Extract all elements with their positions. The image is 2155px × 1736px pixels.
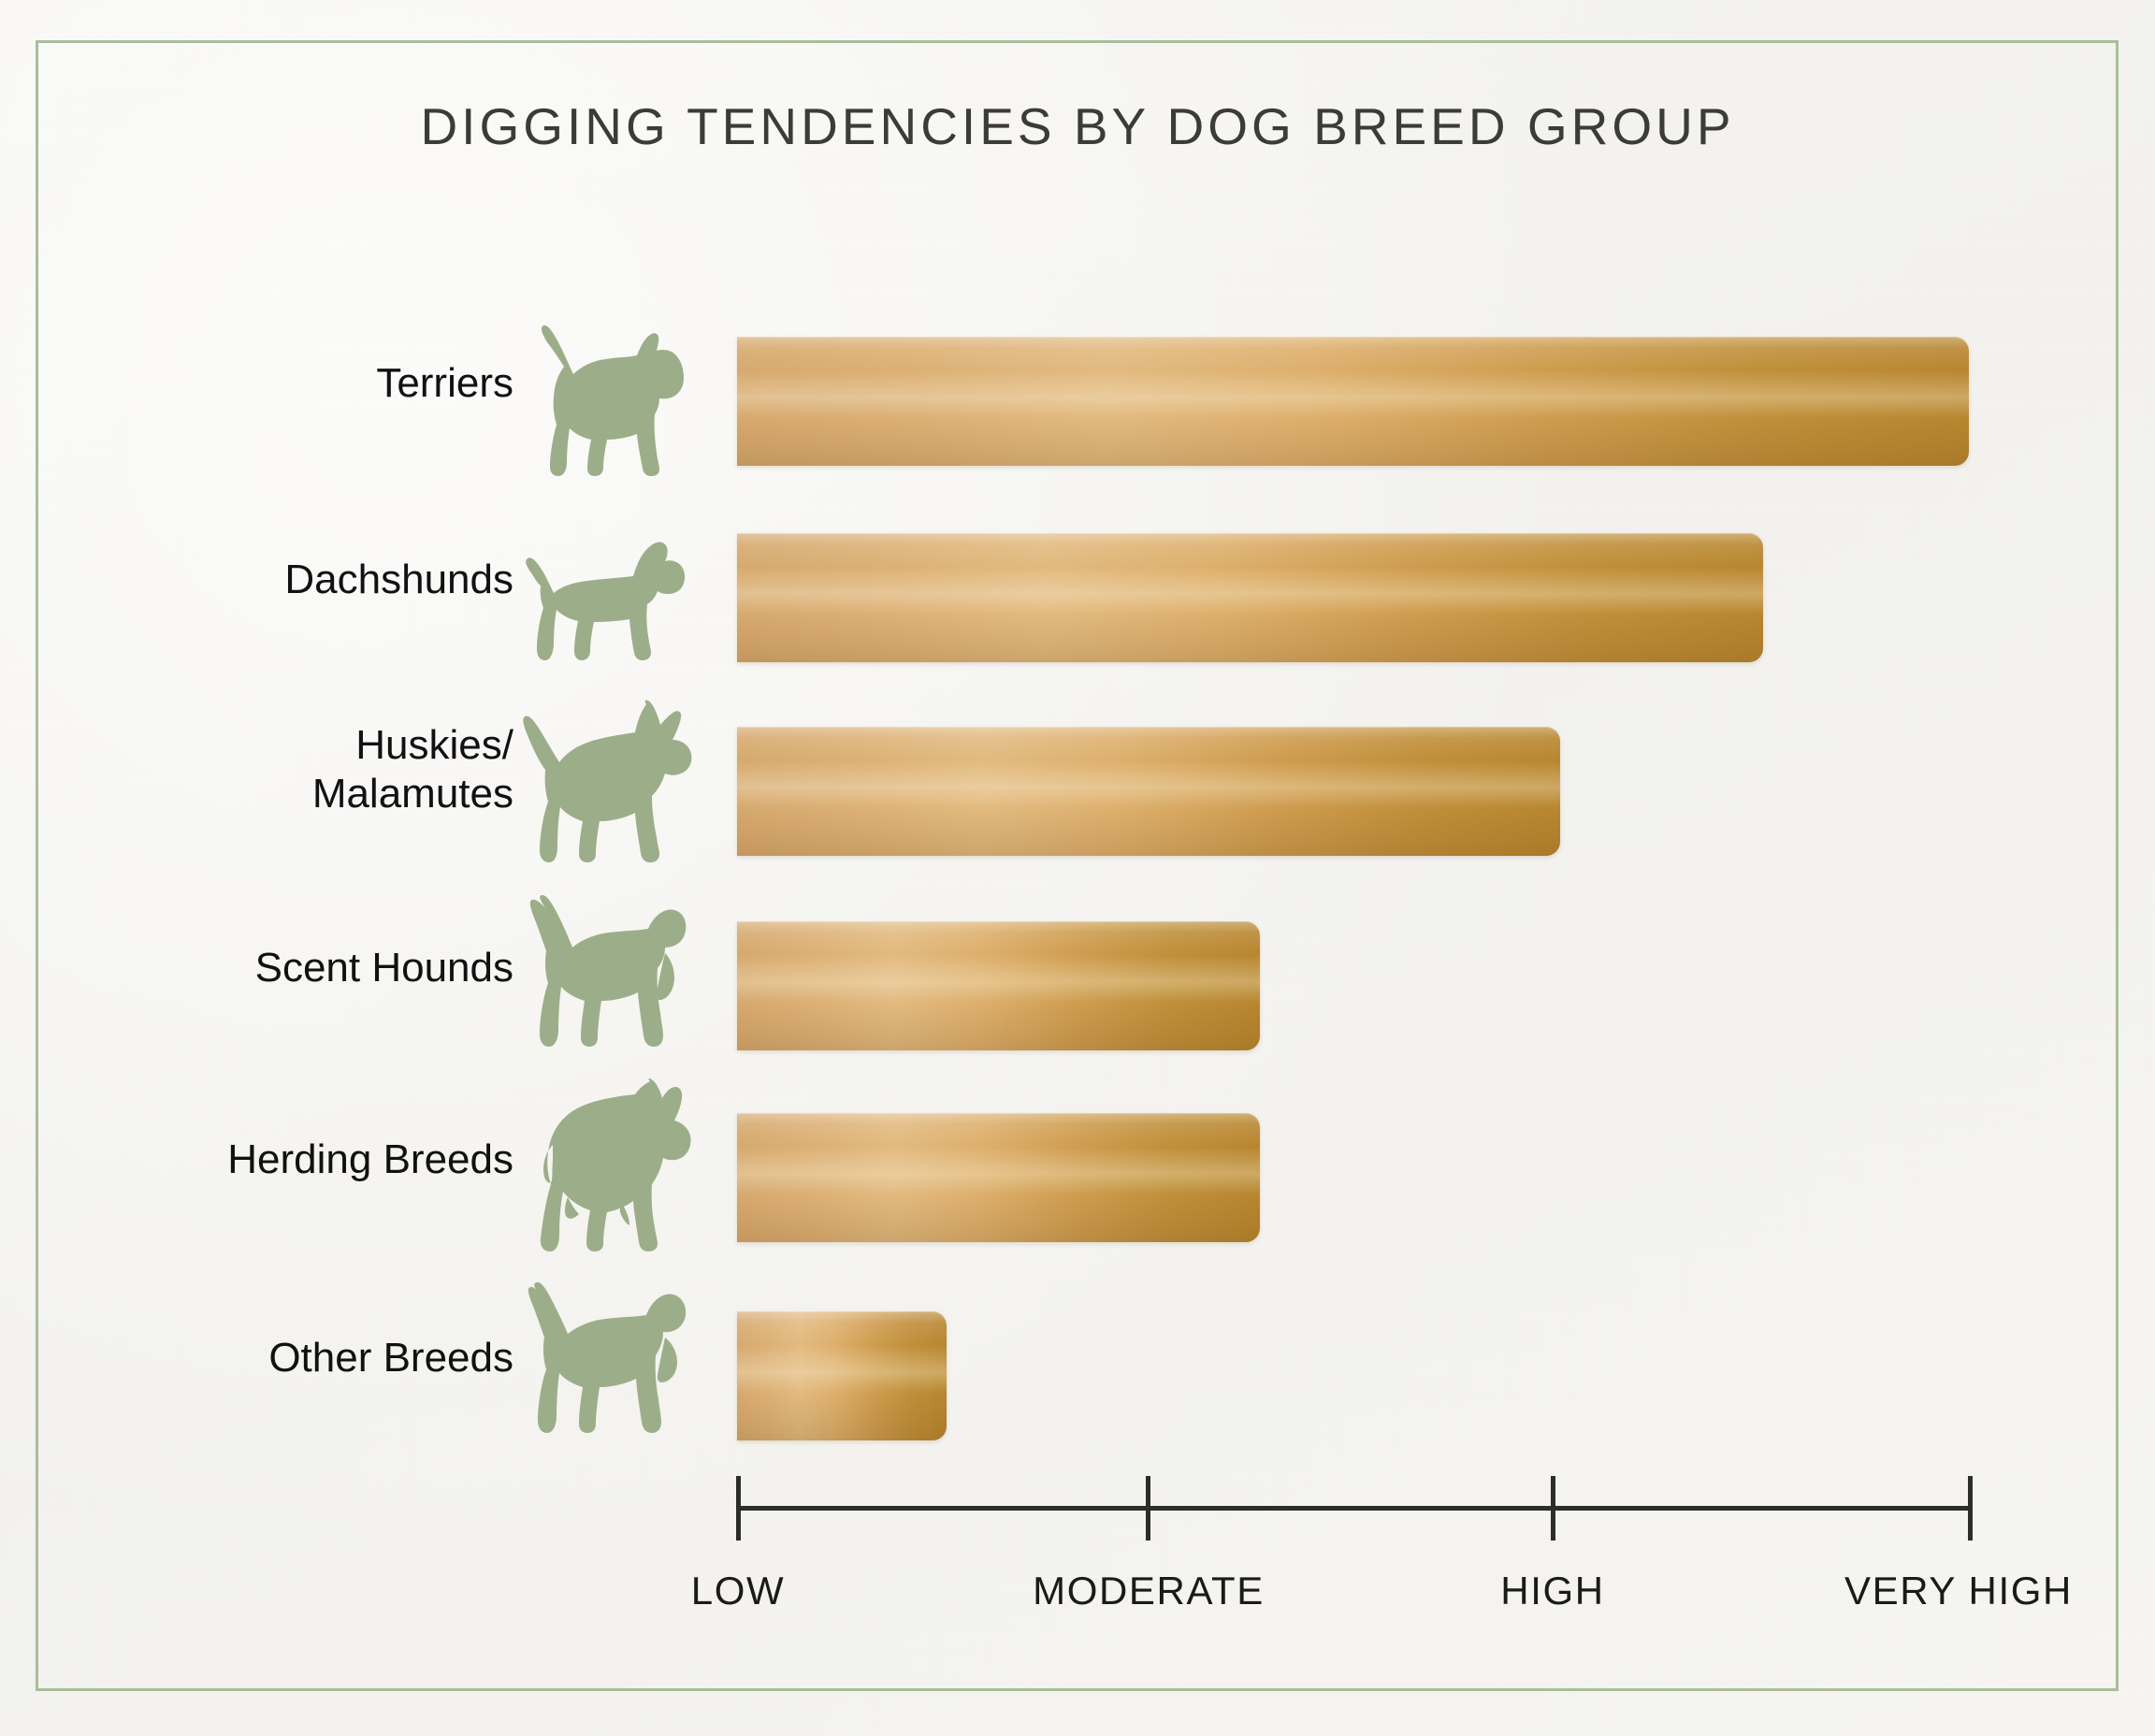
axis-tick-moderate [1146, 1476, 1150, 1541]
axis-tick-label-moderate: MODERATE [1033, 1569, 1265, 1613]
bar-herding-breeds [737, 1113, 1260, 1242]
axis-tick-label-high: HIGH [1500, 1569, 1604, 1613]
axis-tick-low [736, 1476, 741, 1541]
other-breed-silhouette-icon [519, 1281, 689, 1446]
category-label-dachshunds: Dachshunds [284, 556, 513, 604]
category-label-huskies-malamutes: Huskies/ Malamutes [312, 721, 513, 818]
category-label-terriers: Terriers [376, 359, 513, 408]
axis-tick-label-very-high: VERY HIGH [1844, 1569, 2073, 1613]
chart-canvas: DIGGING TENDENCIES BY DOG BREED GROUP Te… [0, 0, 2155, 1736]
axis-tick-very-high [1968, 1476, 1973, 1541]
axis-tick-label-low: LOW [691, 1569, 785, 1613]
axis-tick-high [1551, 1476, 1555, 1541]
bar-dachshunds [737, 533, 1763, 662]
scent-hound-silhouette-icon [519, 895, 687, 1060]
bar-huskies-malamutes [737, 727, 1560, 856]
bar-terriers [737, 337, 1969, 466]
category-label-other-breeds: Other Breeds [268, 1334, 513, 1382]
x-axis-line [737, 1506, 1973, 1511]
terrier-silhouette-icon [519, 322, 686, 479]
category-label-scent-hounds: Scent Hounds [255, 944, 513, 992]
bar-scent-hounds [737, 921, 1260, 1050]
husky-silhouette-icon [519, 699, 693, 865]
plot-area: Terriers Dachshunds Huskies/ Malamutes [0, 0, 2155, 1736]
dachshund-silhouette-icon [519, 524, 687, 664]
herding-dog-silhouette-icon [519, 1078, 691, 1251]
category-label-herding-breeds: Herding Breeds [227, 1136, 513, 1184]
bar-other-breeds [737, 1311, 947, 1440]
